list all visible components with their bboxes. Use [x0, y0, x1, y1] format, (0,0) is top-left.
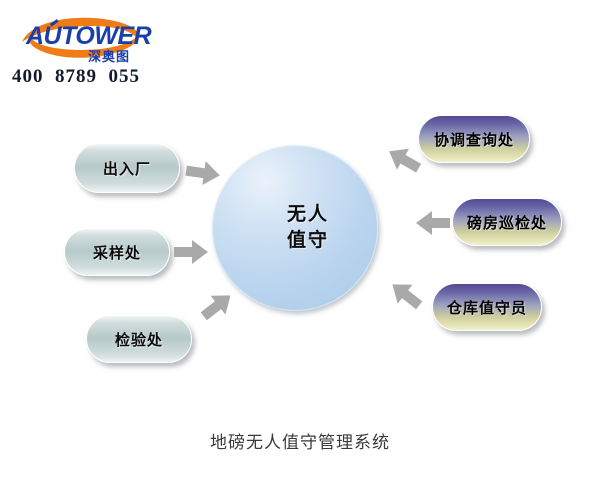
node-right-3[interactable]: 仓库值守员 — [432, 283, 542, 331]
arrow-center-to-right-3 — [392, 272, 436, 316]
arrow-left-2-to-center — [172, 238, 212, 266]
diagram-canvas: AUTOWER 深奥图 400 8789 055 无人 值守 出入厂 采样处 检… — [0, 0, 600, 480]
center-node-label-line1: 无人 — [287, 202, 329, 228]
node-left-1[interactable]: 出入厂 — [74, 143, 180, 193]
node-left-2[interactable]: 采样处 — [64, 228, 170, 276]
arrow-center-to-right-2 — [410, 209, 452, 237]
autower-logo-icon: AUTOWER 深奥图 — [14, 12, 154, 64]
svg-text:AUTOWER: AUTOWER — [25, 22, 152, 50]
center-node-label-line2: 值守 — [287, 228, 329, 254]
center-node-label: 无人 值守 — [212, 145, 378, 311]
arrow-left-1-to-center — [184, 158, 224, 188]
diagram-caption: 地磅无人值守管理系统 — [0, 428, 600, 453]
arrow-left-3-to-center — [188, 282, 230, 326]
svg-text:深奥图: 深奥图 — [88, 49, 130, 64]
phone-number: 400 8789 055 — [12, 66, 140, 88]
node-right-1[interactable]: 协调查询处 — [418, 115, 530, 163]
company-logo: AUTOWER 深奥图 — [14, 12, 154, 64]
node-right-2[interactable]: 磅房巡检处 — [452, 198, 562, 246]
arrow-center-to-right-1 — [384, 140, 428, 184]
node-left-3[interactable]: 检验处 — [86, 315, 192, 363]
